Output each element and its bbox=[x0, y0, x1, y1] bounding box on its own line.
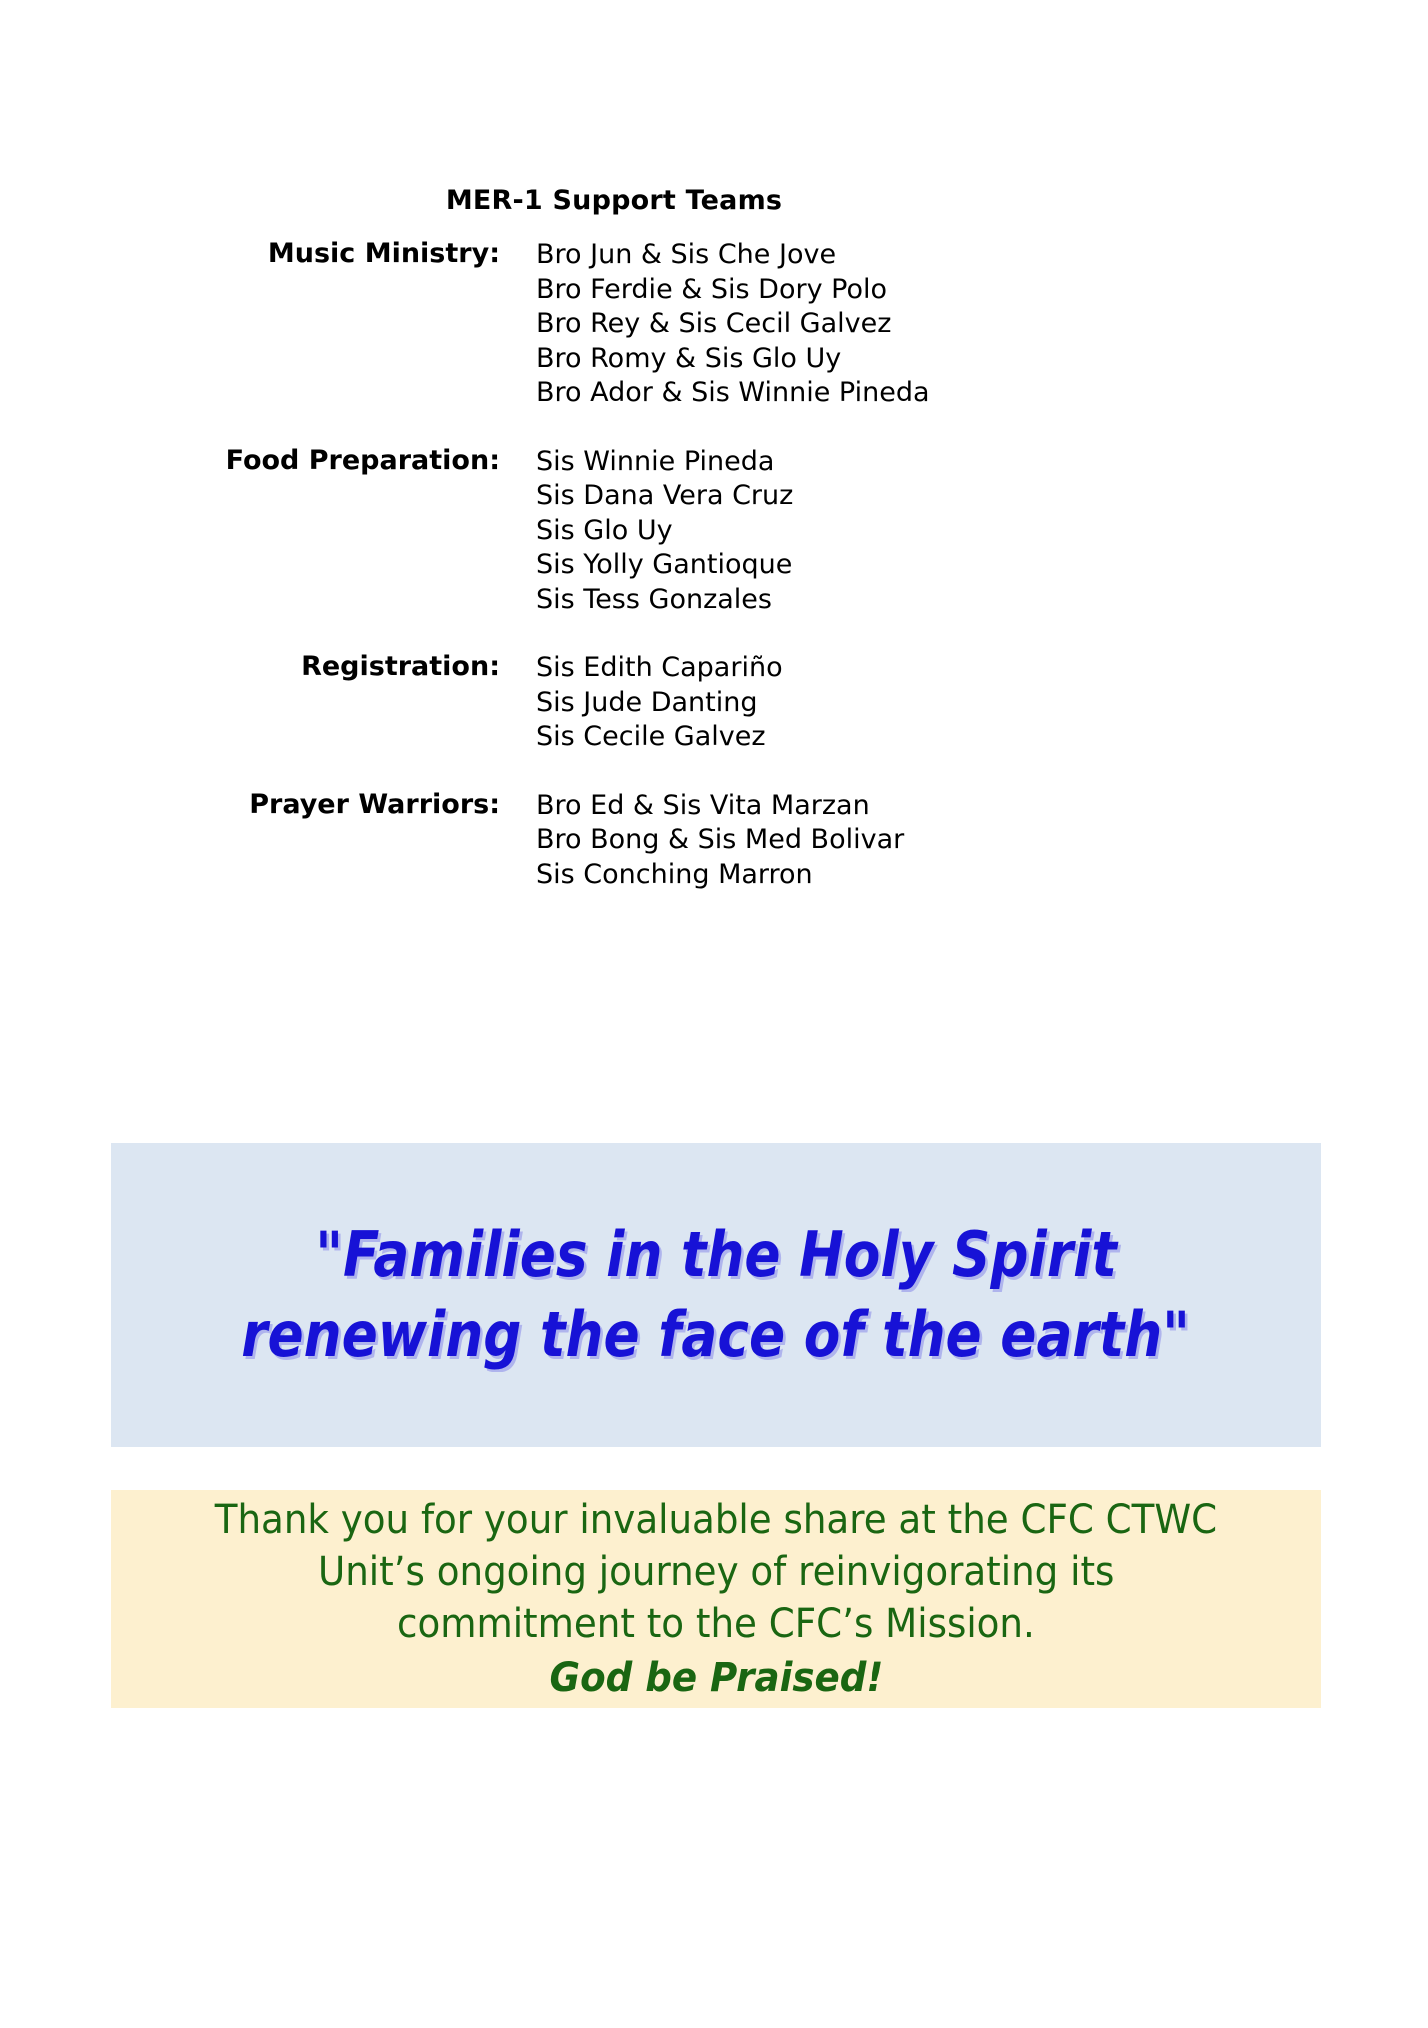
list-item: Bro Romy & Sis Glo Uy bbox=[536, 342, 1428, 377]
list-item: Bro Ed & Sis Vita Marzan bbox=[536, 789, 1428, 824]
list-item: Sis Jude Danting bbox=[536, 686, 1428, 721]
team-label-music-ministry: Music Ministry: bbox=[0, 238, 536, 411]
team-members-registration: Sis Edith Capariño Sis Jude Danting Sis … bbox=[536, 651, 1428, 755]
table-row: Food Preparation: Sis Winnie Pineda Sis … bbox=[0, 445, 1428, 618]
list-item: Bro Bong & Sis Med Bolivar bbox=[536, 823, 1428, 858]
list-item: Sis Glo Uy bbox=[536, 514, 1428, 549]
row-spacer bbox=[0, 411, 1428, 445]
list-item: Sis Yolly Gantioque bbox=[536, 548, 1428, 583]
thanks-line-3: commitment to the CFC’s Mission. bbox=[397, 1598, 1035, 1650]
team-label-food-preparation: Food Preparation: bbox=[0, 445, 536, 618]
mission-quote-banner: "Families in the Holy Spirit renewing th… bbox=[111, 1143, 1321, 1447]
table-row: Prayer Warriors: Bro Ed & Sis Vita Marza… bbox=[0, 789, 1428, 893]
list-item: Bro Ferdie & Sis Dory Polo bbox=[536, 273, 1428, 308]
list-item: Bro Ador & Sis Winnie Pineda bbox=[536, 376, 1428, 411]
list-item: Sis Winnie Pineda bbox=[536, 445, 1428, 480]
list-item: Sis Conching Marron bbox=[536, 858, 1428, 893]
row-spacer bbox=[0, 617, 1428, 651]
list-item: Bro Jun & Sis Che Jove bbox=[536, 238, 1428, 273]
list-item: Sis Dana Vera Cruz bbox=[536, 479, 1428, 514]
page-title: MER-1 Support Teams bbox=[0, 0, 1428, 216]
thanks-line-1: Thank you for your invaluable share at t… bbox=[215, 1494, 1217, 1546]
quote-line-1: "Families in the Holy Spirit bbox=[315, 1215, 1117, 1295]
list-item: Bro Rey & Sis Cecil Galvez bbox=[536, 307, 1428, 342]
god-be-praised-text: God be Praised! bbox=[549, 1650, 883, 1706]
thanks-line-2: Unit’s ongoing journey of reinvigorating… bbox=[318, 1546, 1114, 1598]
list-item: Sis Edith Capariño bbox=[536, 651, 1428, 686]
team-members-music-ministry: Bro Jun & Sis Che Jove Bro Ferdie & Sis … bbox=[536, 238, 1428, 411]
list-item: Sis Tess Gonzales bbox=[536, 583, 1428, 618]
table-row: Registration: Sis Edith Capariño Sis Jud… bbox=[0, 651, 1428, 755]
team-members-prayer-warriors: Bro Ed & Sis Vita Marzan Bro Bong & Sis … bbox=[536, 789, 1428, 893]
row-spacer bbox=[0, 755, 1428, 789]
support-teams-table: Music Ministry: Bro Jun & Sis Che Jove B… bbox=[0, 238, 1428, 892]
support-teams-document: MER-1 Support Teams Music Ministry: Bro … bbox=[0, 0, 1428, 892]
thank-you-banner: Thank you for your invaluable share at t… bbox=[111, 1490, 1321, 1708]
team-members-food-preparation: Sis Winnie Pineda Sis Dana Vera Cruz Sis… bbox=[536, 445, 1428, 618]
quote-line-2: renewing the face of the earth" bbox=[242, 1295, 1191, 1375]
team-label-registration: Registration: bbox=[0, 651, 536, 755]
list-item: Sis Cecile Galvez bbox=[536, 720, 1428, 755]
team-label-prayer-warriors: Prayer Warriors: bbox=[0, 789, 536, 893]
table-row: Music Ministry: Bro Jun & Sis Che Jove B… bbox=[0, 238, 1428, 411]
